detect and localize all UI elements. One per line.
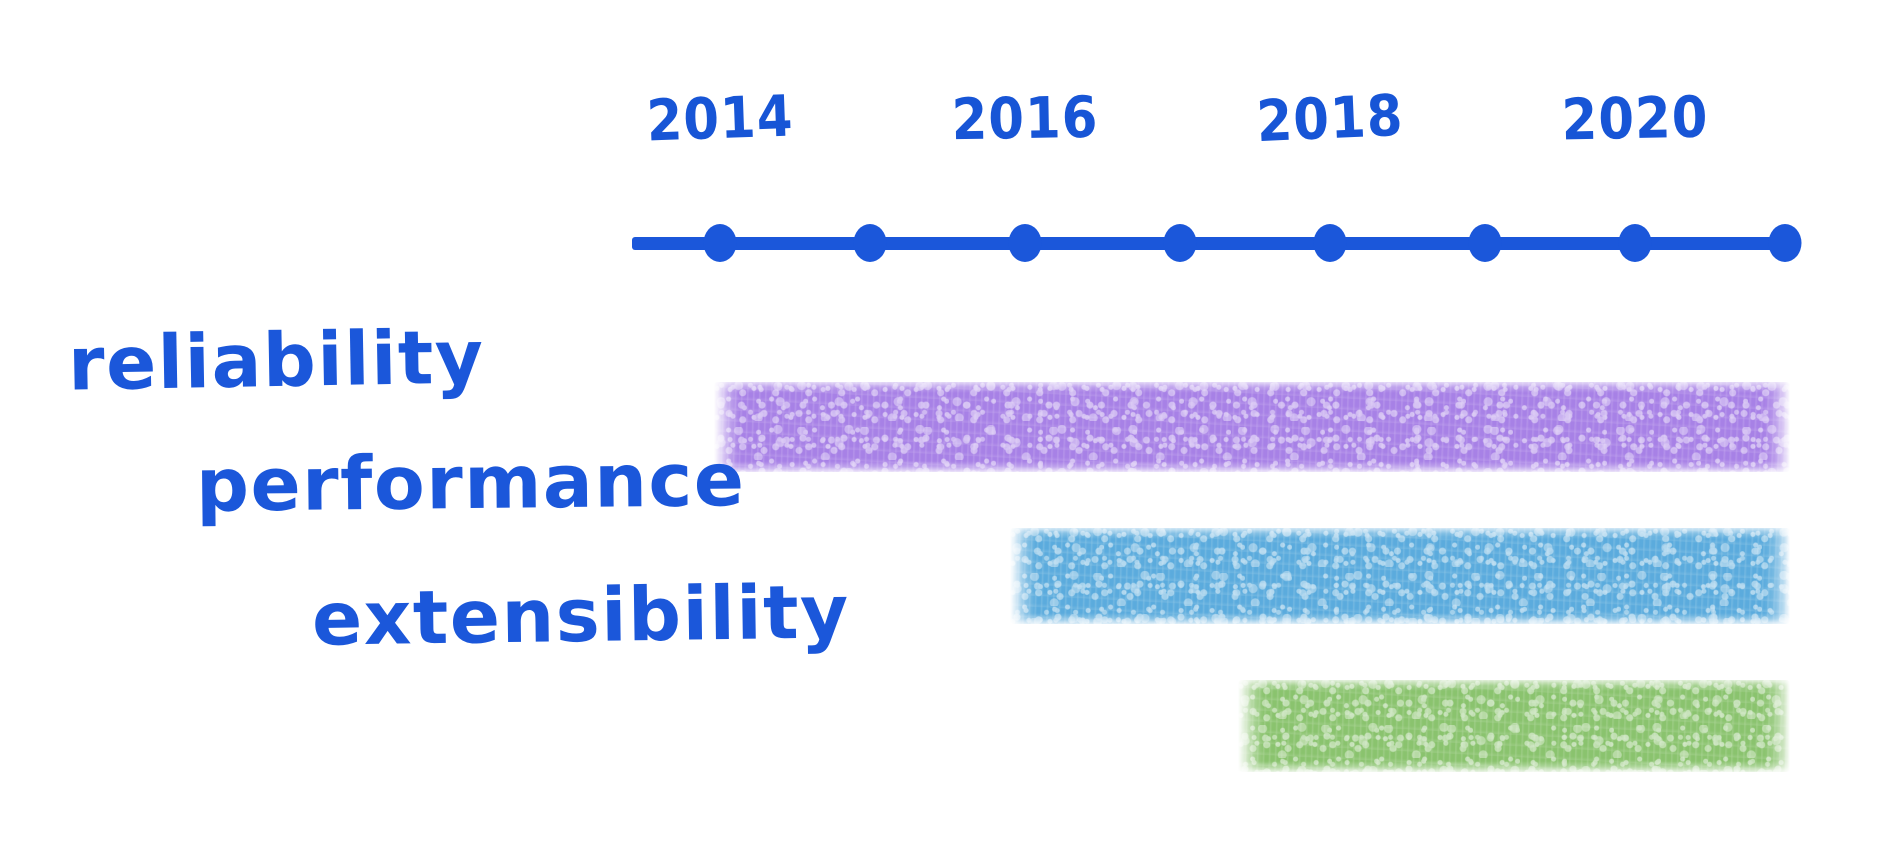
- bar-edge-feather-right: [1764, 680, 1790, 772]
- axis-tick-dot: [1314, 224, 1347, 262]
- axis-tick-dot: [1009, 224, 1042, 262]
- bar-edge-feather-bottom: [714, 461, 1790, 472]
- bar-edge-feather-bottom: [1238, 761, 1790, 772]
- bar-reliability: [714, 382, 1790, 472]
- bar-grain-streaks: [1010, 528, 1790, 624]
- row-label-performance: performance: [196, 437, 746, 529]
- year-label-2020: 2020: [1561, 84, 1709, 153]
- axis-tick-dot: [1164, 224, 1197, 262]
- axis-tick-dot: [704, 224, 737, 262]
- axis-tick-dot: [1469, 224, 1502, 262]
- axis-tick-dot: [1769, 224, 1802, 262]
- bar-edge-feather-right: [1764, 528, 1790, 624]
- bar-performance: [1010, 528, 1790, 624]
- bar-edge-feather-top: [1010, 528, 1790, 539]
- timeline-chart-canvas: 2014 2016 2018 2020 reliability performa…: [0, 0, 1900, 854]
- bar-grain-streaks: [714, 382, 1790, 472]
- bar-grain-streaks: [1238, 680, 1790, 772]
- year-label-2016: 2016: [951, 85, 1099, 154]
- axis-line: [632, 237, 1790, 250]
- bar-edge-feather-right: [1764, 382, 1790, 472]
- bar-edge-feather-left: [1238, 680, 1264, 772]
- row-label-extensibility: extensibility: [311, 569, 850, 663]
- row-label-reliability: reliability: [67, 314, 485, 407]
- axis-tick-dot: [854, 224, 887, 262]
- year-label-2014: 2014: [646, 83, 795, 154]
- bar-edge-feather-bottom: [1010, 613, 1790, 624]
- bar-edge-feather-top: [1238, 680, 1790, 691]
- axis-tick-dot: [1619, 224, 1652, 262]
- bar-edge-feather-top: [714, 382, 1790, 393]
- year-label-2018: 2018: [1255, 83, 1404, 155]
- bar-edge-feather-left: [1010, 528, 1036, 624]
- bar-extensibility: [1238, 680, 1790, 772]
